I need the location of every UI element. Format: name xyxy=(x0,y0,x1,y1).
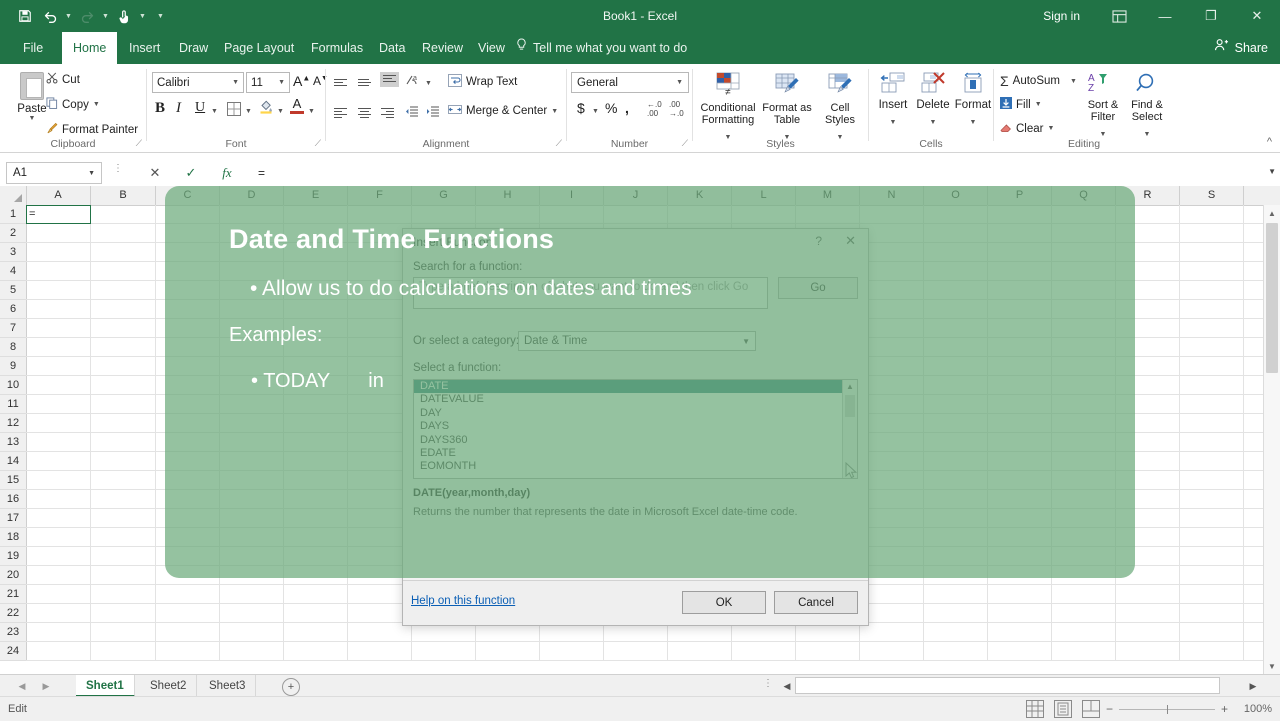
cell-C16[interactable] xyxy=(156,490,220,508)
tab-home[interactable]: Home xyxy=(62,32,117,64)
clear-button[interactable]: Clear ▼ xyxy=(1000,121,1054,136)
cell-J1[interactable] xyxy=(604,205,668,223)
cell-C12[interactable] xyxy=(156,414,220,432)
cell-N2[interactable] xyxy=(860,224,924,242)
cell-D14[interactable] xyxy=(220,452,284,470)
cell-P19[interactable] xyxy=(988,547,1052,565)
cell-A14[interactable] xyxy=(26,452,91,470)
page-break-view-icon[interactable] xyxy=(1082,700,1100,718)
sheet-tab-sheet3[interactable]: Sheet3 xyxy=(199,675,256,697)
percent-style-button[interactable]: % xyxy=(605,100,617,116)
format-as-table-button[interactable]: Format as Table ▼ xyxy=(761,72,813,144)
cell-S5[interactable] xyxy=(1180,281,1244,299)
row-header-6[interactable]: 6 xyxy=(0,300,26,319)
row-header-22[interactable]: 22 xyxy=(0,604,26,623)
cell-P6[interactable] xyxy=(988,300,1052,318)
cell-R13[interactable] xyxy=(1116,433,1180,451)
cell-S24[interactable] xyxy=(1180,642,1244,660)
zoom-track[interactable] xyxy=(1119,709,1215,710)
autosum-button[interactable]: Σ AutoSum ▼ xyxy=(1000,73,1077,89)
cell-S15[interactable] xyxy=(1180,471,1244,489)
cell-N7[interactable] xyxy=(860,319,924,337)
cell-E13[interactable] xyxy=(284,433,348,451)
cell-G24[interactable] xyxy=(412,642,476,660)
cell-C5[interactable] xyxy=(156,281,220,299)
cell-S23[interactable] xyxy=(1180,623,1244,641)
minimize-button[interactable]: — xyxy=(1142,0,1188,32)
cell-C4[interactable] xyxy=(156,262,220,280)
zoom-in-button[interactable]: + xyxy=(1221,702,1228,716)
cell-F24[interactable] xyxy=(348,642,412,660)
cell-N6[interactable] xyxy=(860,300,924,318)
copy-button[interactable]: Copy ▼ xyxy=(46,97,100,112)
accounting-dropdown-icon[interactable]: ▼ xyxy=(592,108,599,115)
cell-S16[interactable] xyxy=(1180,490,1244,508)
row-header-10[interactable]: 10 xyxy=(0,376,26,395)
comma-style-button[interactable]: , xyxy=(625,100,629,116)
increase-decimal-button[interactable]: ←.0.00 xyxy=(647,100,662,118)
find-select-button[interactable]: Find & Select ▼ xyxy=(1124,72,1170,141)
cell-R8[interactable] xyxy=(1116,338,1180,356)
fill-color-dropdown-icon[interactable]: ▼ xyxy=(277,108,284,115)
hscroll-right-arrow[interactable]: ▶ xyxy=(1246,678,1260,694)
name-box-dropdown-icon[interactable]: ▼ xyxy=(88,170,95,177)
cell-C3[interactable] xyxy=(156,243,220,261)
cell-A4[interactable] xyxy=(26,262,91,280)
column-header-N[interactable]: N xyxy=(860,186,924,205)
cell-S14[interactable] xyxy=(1180,452,1244,470)
cell-Q13[interactable] xyxy=(1052,433,1116,451)
cell-P13[interactable] xyxy=(988,433,1052,451)
cell-B18[interactable] xyxy=(91,528,156,546)
number-format-combobox[interactable]: General ▼ xyxy=(571,72,689,93)
cell-Q24[interactable] xyxy=(1052,642,1116,660)
cell-D13[interactable] xyxy=(220,433,284,451)
cell-O7[interactable] xyxy=(924,319,988,337)
fill-color-button[interactable] xyxy=(259,99,273,119)
cell-O5[interactable] xyxy=(924,281,988,299)
cell-A12[interactable] xyxy=(26,414,91,432)
cell-Q3[interactable] xyxy=(1052,243,1116,261)
vertical-scrollbar[interactable]: ▲ ▼ xyxy=(1263,205,1280,674)
cell-S8[interactable] xyxy=(1180,338,1244,356)
column-header-B[interactable]: B xyxy=(91,186,156,205)
align-left-button[interactable] xyxy=(334,104,347,122)
cell-S17[interactable] xyxy=(1180,509,1244,527)
vertical-scroll-thumb[interactable] xyxy=(1266,223,1278,373)
cell-N23[interactable] xyxy=(860,623,924,641)
cell-A7[interactable] xyxy=(26,319,91,337)
cell-B7[interactable] xyxy=(91,319,156,337)
decrease-indent-button[interactable] xyxy=(405,104,419,122)
cell-S18[interactable] xyxy=(1180,528,1244,546)
cell-R21[interactable] xyxy=(1116,585,1180,603)
cell-Q14[interactable] xyxy=(1052,452,1116,470)
alignment-dialog-launcher[interactable]: ⟋ xyxy=(556,138,562,149)
cell-E15[interactable] xyxy=(284,471,348,489)
category-select[interactable]: Date & Time ▼ xyxy=(518,331,756,351)
ribbon-display-options-icon[interactable] xyxy=(1096,0,1142,32)
cell-Q5[interactable] xyxy=(1052,281,1116,299)
cell-B3[interactable] xyxy=(91,243,156,261)
cell-B22[interactable] xyxy=(91,604,156,622)
cell-A15[interactable] xyxy=(26,471,91,489)
format-painter-button[interactable]: Format Painter xyxy=(46,122,138,137)
cell-B1[interactable] xyxy=(91,205,156,223)
cell-B13[interactable] xyxy=(91,433,156,451)
cell-P11[interactable] xyxy=(988,395,1052,413)
cell-R23[interactable] xyxy=(1116,623,1180,641)
cell-P22[interactable] xyxy=(988,604,1052,622)
cell-H1[interactable] xyxy=(476,205,540,223)
cell-O11[interactable] xyxy=(924,395,988,413)
cell-O19[interactable] xyxy=(924,547,988,565)
normal-view-icon[interactable] xyxy=(1026,700,1044,718)
collapse-ribbon-button[interactable]: ^ xyxy=(1267,136,1272,148)
cell-P7[interactable] xyxy=(988,319,1052,337)
row-header-7[interactable]: 7 xyxy=(0,319,26,338)
cell-O13[interactable] xyxy=(924,433,988,451)
cell-O21[interactable] xyxy=(924,585,988,603)
cell-E18[interactable] xyxy=(284,528,348,546)
cell-P9[interactable] xyxy=(988,357,1052,375)
clipboard-dialog-launcher[interactable]: ⟋ xyxy=(136,138,142,149)
cell-O10[interactable] xyxy=(924,376,988,394)
cell-P4[interactable] xyxy=(988,262,1052,280)
tab-file[interactable]: File xyxy=(12,32,54,64)
tab-page-layout[interactable]: Page Layout xyxy=(213,32,305,64)
sort-filter-button[interactable]: AZ Sort & Filter ▼ xyxy=(1080,72,1126,141)
row-header-12[interactable]: 12 xyxy=(0,414,26,433)
align-top-button[interactable] xyxy=(334,75,347,93)
bold-button[interactable]: B xyxy=(155,100,165,117)
cell-A9[interactable] xyxy=(26,357,91,375)
cell-P2[interactable] xyxy=(988,224,1052,242)
cell-S20[interactable] xyxy=(1180,566,1244,584)
cell-K1[interactable] xyxy=(668,205,732,223)
fill-button[interactable]: Fill ▼ xyxy=(1000,97,1042,112)
column-header-M[interactable]: M xyxy=(796,186,860,205)
cell-Q20[interactable] xyxy=(1052,566,1116,584)
cell-R18[interactable] xyxy=(1116,528,1180,546)
row-header-5[interactable]: 5 xyxy=(0,281,26,300)
cancel-formula-button[interactable]: ✕ xyxy=(142,163,168,183)
delete-cells-dropdown-icon[interactable]: ▼ xyxy=(930,119,937,126)
tab-view[interactable]: View xyxy=(467,32,516,64)
row-header-15[interactable]: 15 xyxy=(0,471,26,490)
cell-R17[interactable] xyxy=(1116,509,1180,527)
cell-C13[interactable] xyxy=(156,433,220,451)
cell-P16[interactable] xyxy=(988,490,1052,508)
cell-A2[interactable] xyxy=(26,224,91,242)
cell-Q21[interactable] xyxy=(1052,585,1116,603)
close-button[interactable]: ✕ xyxy=(1234,0,1280,32)
cell-B11[interactable] xyxy=(91,395,156,413)
cell-P20[interactable] xyxy=(988,566,1052,584)
row-header-21[interactable]: 21 xyxy=(0,585,26,604)
cell-D17[interactable] xyxy=(220,509,284,527)
cell-D12[interactable] xyxy=(220,414,284,432)
tab-split-grip[interactable]: ⋮ xyxy=(763,680,773,687)
cell-C15[interactable] xyxy=(156,471,220,489)
cell-P14[interactable] xyxy=(988,452,1052,470)
cell-O20[interactable] xyxy=(924,566,988,584)
cell-P10[interactable] xyxy=(988,376,1052,394)
increase-indent-button[interactable] xyxy=(426,104,440,122)
cell-B6[interactable] xyxy=(91,300,156,318)
cell-O16[interactable] xyxy=(924,490,988,508)
wrap-text-button[interactable]: Wrap Text xyxy=(448,74,517,90)
function-list-item[interactable]: EOMONTH xyxy=(414,460,857,473)
cell-S3[interactable] xyxy=(1180,243,1244,261)
cell-B23[interactable] xyxy=(91,623,156,641)
cell-N3[interactable] xyxy=(860,243,924,261)
cell-R22[interactable] xyxy=(1116,604,1180,622)
cell-B19[interactable] xyxy=(91,547,156,565)
cell-C10[interactable] xyxy=(156,376,220,394)
cell-N11[interactable] xyxy=(860,395,924,413)
cell-D6[interactable] xyxy=(220,300,284,318)
cell-N4[interactable] xyxy=(860,262,924,280)
orientation-dropdown-icon[interactable]: ▼ xyxy=(425,80,432,87)
restore-button[interactable]: ❐ xyxy=(1188,0,1234,32)
cell-Q2[interactable] xyxy=(1052,224,1116,242)
cell-O22[interactable] xyxy=(924,604,988,622)
cell-R6[interactable] xyxy=(1116,300,1180,318)
cell-R9[interactable] xyxy=(1116,357,1180,375)
cell-O8[interactable] xyxy=(924,338,988,356)
cell-B17[interactable] xyxy=(91,509,156,527)
cell-R4[interactable] xyxy=(1116,262,1180,280)
cell-D16[interactable] xyxy=(220,490,284,508)
cell-S19[interactable] xyxy=(1180,547,1244,565)
row-header-16[interactable]: 16 xyxy=(0,490,26,509)
next-sheet-arrow[interactable]: ▶ xyxy=(38,678,54,694)
cell-Q19[interactable] xyxy=(1052,547,1116,565)
cell-S9[interactable] xyxy=(1180,357,1244,375)
row-header-1[interactable]: 1 xyxy=(0,205,26,224)
fill-dropdown-icon[interactable]: ▼ xyxy=(1035,101,1042,108)
expand-formula-bar-icon[interactable]: ▼ xyxy=(1268,167,1276,176)
number-dialog-launcher[interactable]: ⟋ xyxy=(682,138,688,149)
font-dialog-launcher[interactable]: ⟋ xyxy=(315,138,321,149)
align-middle-button[interactable] xyxy=(358,75,371,93)
page-layout-view-icon[interactable] xyxy=(1054,700,1072,718)
tell-me-box[interactable]: Tell me what you want to do xyxy=(516,32,687,64)
column-header-I[interactable]: I xyxy=(540,186,604,205)
cell-O6[interactable] xyxy=(924,300,988,318)
function-list-item[interactable]: DATEVALUE xyxy=(414,393,857,406)
cell-O4[interactable] xyxy=(924,262,988,280)
formula-bar-grip[interactable]: ⋮ xyxy=(113,165,123,173)
cell-C17[interactable] xyxy=(156,509,220,527)
function-list-scroll-thumb[interactable] xyxy=(845,395,855,417)
cell-Q15[interactable] xyxy=(1052,471,1116,489)
cell-P23[interactable] xyxy=(988,623,1052,641)
cell-B2[interactable] xyxy=(91,224,156,242)
number-format-dropdown-icon[interactable]: ▼ xyxy=(676,79,683,86)
delete-cells-button[interactable]: Delete ▼ xyxy=(912,72,954,129)
cell-N17[interactable] xyxy=(860,509,924,527)
cell-E6[interactable] xyxy=(284,300,348,318)
cell-R24[interactable] xyxy=(1116,642,1180,660)
cell-B24[interactable] xyxy=(91,642,156,660)
cell-M1[interactable] xyxy=(796,205,860,223)
tab-draw[interactable]: Draw xyxy=(168,32,219,64)
function-list-item[interactable]: DAYS xyxy=(414,420,857,433)
cell-S21[interactable] xyxy=(1180,585,1244,603)
insert-cells-button[interactable]: Insert ▼ xyxy=(873,72,913,129)
italic-button[interactable]: I xyxy=(176,100,181,117)
cell-P17[interactable] xyxy=(988,509,1052,527)
row-header-23[interactable]: 23 xyxy=(0,623,26,642)
cell-C14[interactable] xyxy=(156,452,220,470)
row-header-8[interactable]: 8 xyxy=(0,338,26,357)
font-color-button[interactable]: A xyxy=(290,98,304,114)
cell-Q4[interactable] xyxy=(1052,262,1116,280)
cell-C23[interactable] xyxy=(156,623,220,641)
grid-row[interactable] xyxy=(26,642,1280,661)
column-header-K[interactable]: K xyxy=(668,186,732,205)
zoom-out-button[interactable]: − xyxy=(1106,702,1113,716)
font-color-dropdown-icon[interactable]: ▼ xyxy=(308,108,315,115)
enter-formula-button[interactable]: ✓ xyxy=(178,163,204,183)
cell-J24[interactable] xyxy=(604,642,668,660)
cell-Q11[interactable] xyxy=(1052,395,1116,413)
grid-row[interactable]: = xyxy=(26,205,1280,224)
column-header-C[interactable]: C xyxy=(156,186,220,205)
cell-P15[interactable] xyxy=(988,471,1052,489)
cell-E20[interactable] xyxy=(284,566,348,584)
function-list-item[interactable]: EDATE xyxy=(414,447,857,460)
cancel-button[interactable]: Cancel xyxy=(774,591,858,614)
cell-O23[interactable] xyxy=(924,623,988,641)
cell-N1[interactable] xyxy=(860,205,924,223)
cut-button[interactable]: Cut xyxy=(46,72,80,87)
help-on-this-function-link[interactable]: Help on this function xyxy=(411,595,515,607)
cell-R11[interactable] xyxy=(1116,395,1180,413)
cell-P12[interactable] xyxy=(988,414,1052,432)
cell-C1[interactable] xyxy=(156,205,220,223)
cell-R1[interactable] xyxy=(1116,205,1180,223)
cell-D23[interactable] xyxy=(220,623,284,641)
cell-C18[interactable] xyxy=(156,528,220,546)
orientation-button[interactable]: a xyxy=(406,73,420,92)
cell-N13[interactable] xyxy=(860,433,924,451)
cell-A24[interactable] xyxy=(26,642,91,660)
hscroll-left-arrow[interactable]: ◀ xyxy=(780,678,794,694)
row-header-24[interactable]: 24 xyxy=(0,642,26,661)
cell-A5[interactable] xyxy=(26,281,91,299)
cell-E22[interactable] xyxy=(284,604,348,622)
cell-B21[interactable] xyxy=(91,585,156,603)
cell-D11[interactable] xyxy=(220,395,284,413)
borders-dropdown-icon[interactable]: ▼ xyxy=(245,108,252,115)
cell-B5[interactable] xyxy=(91,281,156,299)
cell-O14[interactable] xyxy=(924,452,988,470)
insert-function-button[interactable]: fx xyxy=(214,163,240,183)
dialog-help-icon[interactable]: ? xyxy=(815,234,822,248)
decrease-decimal-button[interactable]: .00→.0 xyxy=(669,100,684,118)
merge-center-dropdown-icon[interactable]: ▼ xyxy=(551,108,558,115)
cell-B15[interactable] xyxy=(91,471,156,489)
go-button[interactable]: Go xyxy=(778,277,858,299)
cell-Q7[interactable] xyxy=(1052,319,1116,337)
cell-P3[interactable] xyxy=(988,243,1052,261)
cell-R3[interactable] xyxy=(1116,243,1180,261)
cell-A21[interactable] xyxy=(26,585,91,603)
horizontal-scrollbar[interactable] xyxy=(795,677,1220,694)
cell-H24[interactable] xyxy=(476,642,540,660)
cell-B14[interactable] xyxy=(91,452,156,470)
row-header-14[interactable]: 14 xyxy=(0,452,26,471)
column-header-O[interactable]: O xyxy=(924,186,988,205)
merge-center-button[interactable]: Merge & Center ▼ xyxy=(448,103,558,119)
cell-P24[interactable] xyxy=(988,642,1052,660)
cell-N10[interactable] xyxy=(860,376,924,394)
row-header-18[interactable]: 18 xyxy=(0,528,26,547)
cell-D24[interactable] xyxy=(220,642,284,660)
column-header-E[interactable]: E xyxy=(284,186,348,205)
cell-R12[interactable] xyxy=(1116,414,1180,432)
function-list-item[interactable]: DAY xyxy=(414,407,857,420)
dialog-close-icon[interactable]: ✕ xyxy=(845,233,856,249)
cell-P8[interactable] xyxy=(988,338,1052,356)
cell-R7[interactable] xyxy=(1116,319,1180,337)
autosum-dropdown-icon[interactable]: ▼ xyxy=(1070,78,1077,85)
function-list-item[interactable]: DAYS360 xyxy=(414,434,857,447)
cell-N5[interactable] xyxy=(860,281,924,299)
font-name-combobox[interactable]: Calibri ▼ xyxy=(152,72,244,93)
cell-P5[interactable] xyxy=(988,281,1052,299)
paste-dropdown-icon[interactable]: ▼ xyxy=(10,115,54,122)
cell-A18[interactable] xyxy=(26,528,91,546)
format-cells-dropdown-icon[interactable]: ▼ xyxy=(970,119,977,126)
tab-insert[interactable]: Insert xyxy=(118,32,171,64)
share-button[interactable]: Share xyxy=(1214,32,1268,64)
cell-L24[interactable] xyxy=(732,642,796,660)
zoom-slider[interactable]: − + xyxy=(1106,697,1228,721)
cell-N19[interactable] xyxy=(860,547,924,565)
cell-P21[interactable] xyxy=(988,585,1052,603)
row-header-11[interactable]: 11 xyxy=(0,395,26,414)
cell-A17[interactable] xyxy=(26,509,91,527)
cell-Q9[interactable] xyxy=(1052,357,1116,375)
align-bottom-button[interactable] xyxy=(380,72,399,87)
cell-R14[interactable] xyxy=(1116,452,1180,470)
cell-B12[interactable] xyxy=(91,414,156,432)
sheet-tab-sheet2[interactable]: Sheet2 xyxy=(140,675,197,697)
cell-C21[interactable] xyxy=(156,585,220,603)
cell-E11[interactable] xyxy=(284,395,348,413)
cell-O1[interactable] xyxy=(924,205,988,223)
function-list-item[interactable]: DATE xyxy=(414,380,857,393)
cell-E24[interactable] xyxy=(284,642,348,660)
cell-Q10[interactable] xyxy=(1052,376,1116,394)
cell-S4[interactable] xyxy=(1180,262,1244,280)
cell-Q22[interactable] xyxy=(1052,604,1116,622)
column-header-G[interactable]: G xyxy=(412,186,476,205)
cell-S13[interactable] xyxy=(1180,433,1244,451)
cell-S11[interactable] xyxy=(1180,395,1244,413)
cell-A8[interactable] xyxy=(26,338,91,356)
cell-L1[interactable] xyxy=(732,205,796,223)
font-size-dropdown-icon[interactable]: ▼ xyxy=(278,79,285,86)
cell-R5[interactable] xyxy=(1116,281,1180,299)
cell-A19[interactable] xyxy=(26,547,91,565)
copy-dropdown-icon[interactable]: ▼ xyxy=(93,101,100,108)
cell-styles-button[interactable]: Cell Styles ▼ xyxy=(817,72,863,144)
